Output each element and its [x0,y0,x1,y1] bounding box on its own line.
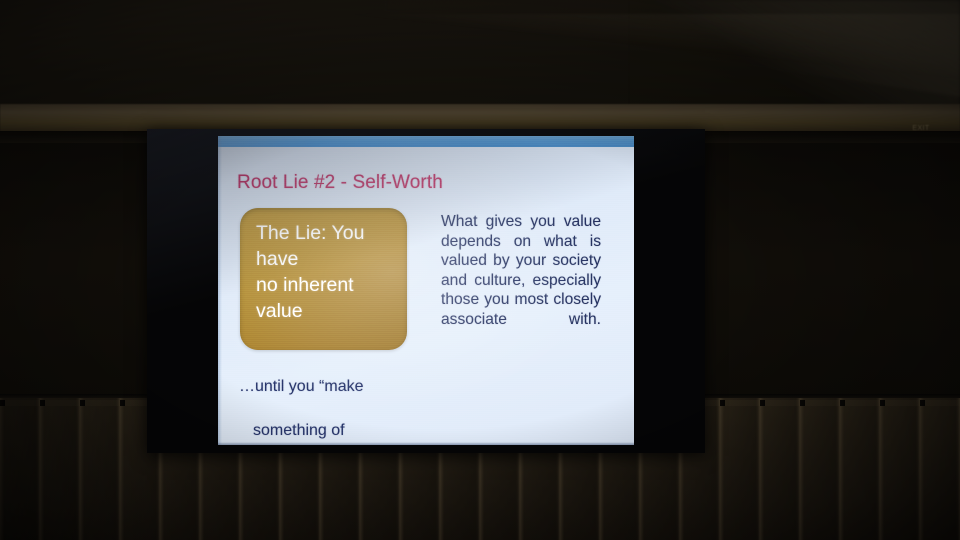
slide-header-bar [218,136,634,147]
caption-line-1: …until you “make [239,378,364,395]
projection-screen-bezel: Root Lie #2 - Self-Worth The Lie: You ha… [147,129,705,453]
ceiling-corner-highlight [630,0,960,120]
callout-text: The Lie: You have no inherent value [256,220,399,324]
curtain-left-shadow [0,398,150,540]
presentation-slide: Root Lie #2 - Self-Worth The Lie: You ha… [218,136,634,445]
callout-caption: …until you “make something of yourself.” [239,354,439,445]
slide-bottom-edge-glare [218,442,634,445]
callout-box: The Lie: You have no inherent value [240,208,407,350]
wall-sign-label: EXIT [901,123,941,135]
slide-left-edge-glare [218,136,222,445]
screenshot-stage: EXIT Root Lie #2 - Self-Worth The Lie: Y… [0,0,960,540]
slide-body-text: What gives you value depends on what is … [441,212,601,349]
slide-header-bar-sheen [218,136,634,147]
caption-line-2: something of [239,420,345,442]
slide-title: Root Lie #2 - Self-Worth [237,172,443,194]
